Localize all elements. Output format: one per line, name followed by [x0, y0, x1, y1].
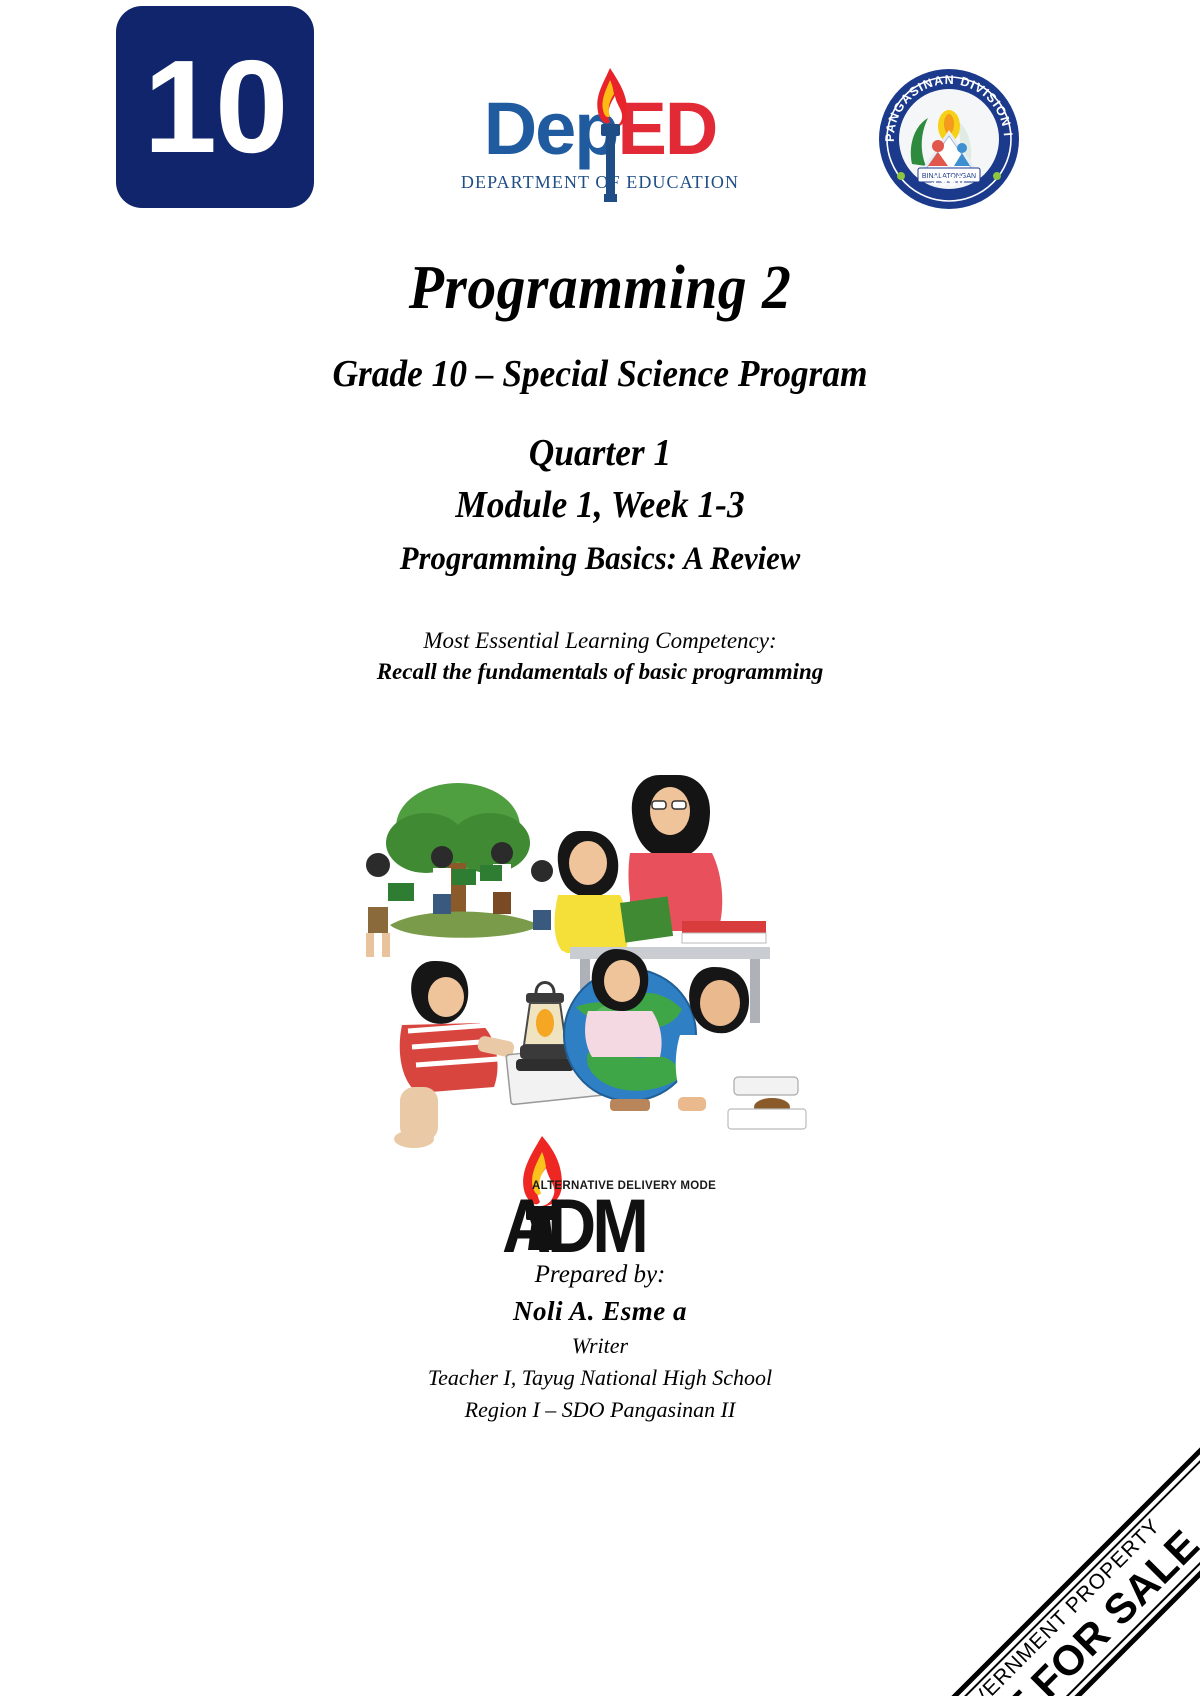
module-week-label: Module 1, Week 1-3: [42, 478, 1158, 532]
grade-level-badge: 10: [116, 6, 314, 208]
deped-logo-subtitle: DEPARTMENT OF EDUCATION: [455, 172, 745, 193]
banner-government-property: GOVERNMENT PROPERTY: [943, 1514, 1165, 1696]
banner-strip: GOVERNMENT PROPERTY NOT FOR SALE: [854, 1425, 1200, 1696]
deped-logo: DepED DEPARTMENT OF EDUCATION: [455, 72, 745, 212]
author-position: Teacher I, Tayug National High School: [0, 1362, 1200, 1394]
cover-illustration: [330, 735, 830, 1150]
author-role: Writer: [0, 1330, 1200, 1362]
adm-logo: ALTERNATIVE DELIVERY MODE ADM: [480, 1130, 690, 1250]
melc-label: Most Essential Learning Competency:: [0, 626, 1200, 656]
deped-wordmark-ed: ED: [618, 87, 717, 170]
melc-text: Recall the fundamentals of basic program…: [0, 656, 1200, 688]
not-for-sale-banner: GOVERNMENT PROPERTY NOT FOR SALE: [833, 1404, 1200, 1696]
module-cover-page: 10 DepED DEPARTMENT OF EDUCATION: [0, 0, 1200, 1696]
grade-program-subtitle: Grade 10 – Special Science Program: [42, 350, 1158, 398]
author-region: Region I – SDO Pangasinan II: [0, 1394, 1200, 1426]
lesson-title: Programming Basics: A Review: [42, 536, 1158, 582]
grade-level-number: 10: [144, 41, 287, 173]
author-name: Noli A. Esme a: [0, 1292, 1200, 1330]
quarter-label: Quarter 1: [42, 428, 1158, 478]
credits-block: Prepared by: Noli A. Esme a Writer Teach…: [0, 1258, 1200, 1426]
cover-title-block: Programming 2 Grade 10 – Special Science…: [0, 250, 1200, 688]
prepared-by-label: Prepared by:: [0, 1258, 1200, 1292]
division-seal: BINALATONGAN PANGASINAN DIVISION II 1990: [878, 68, 1020, 210]
banner-not-for-sale: NOT FOR SALE: [950, 1521, 1200, 1696]
cover-header: 10 DepED DEPARTMENT OF EDUCATION: [0, 0, 1200, 235]
adm-wordmark: ADM: [502, 1188, 645, 1264]
page-title: Programming 2: [42, 250, 1158, 326]
